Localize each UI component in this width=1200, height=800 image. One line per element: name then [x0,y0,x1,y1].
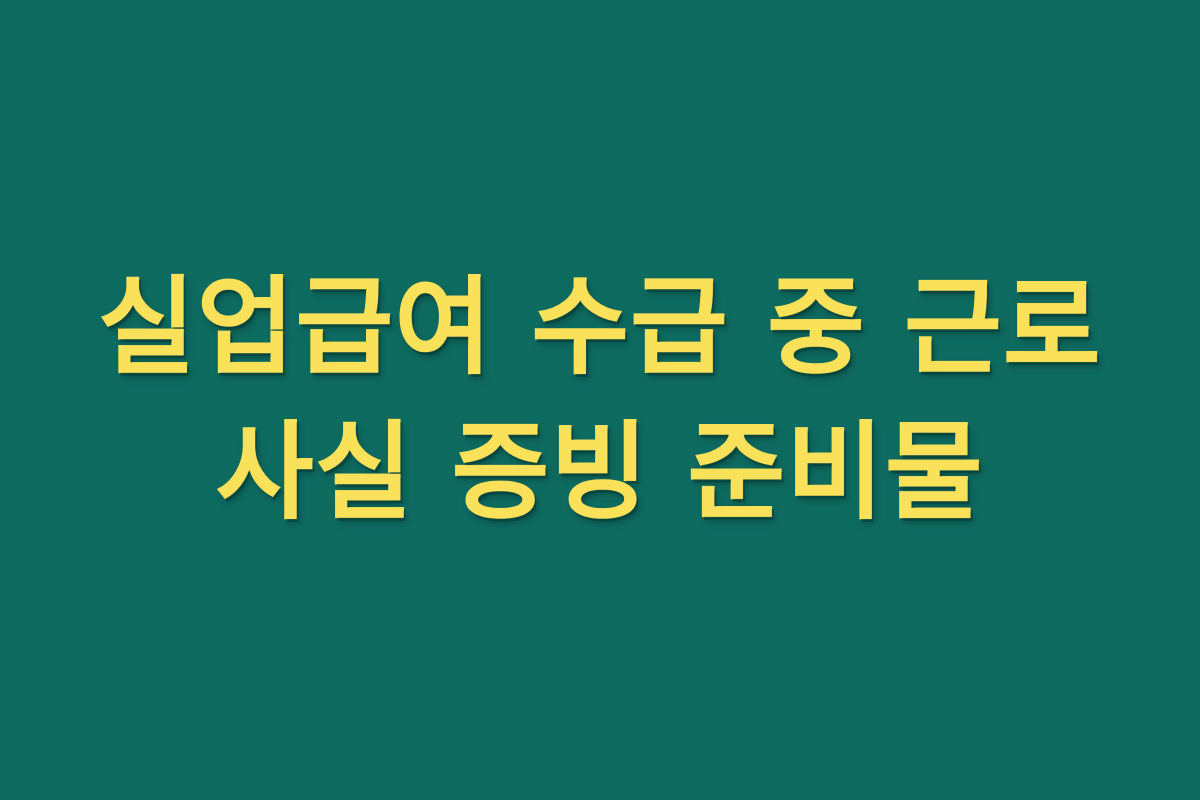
headline-line-2: 사실 증빙 준비물 [216,407,984,538]
headline-block: 실업급여 수급 중 근로 사실 증빙 준비물 [50,262,1150,539]
banner-canvas: 실업급여 수급 중 근로 사실 증빙 준비물 [0,0,1200,800]
headline-line-1: 실업급여 수급 중 근로 [98,262,1102,393]
